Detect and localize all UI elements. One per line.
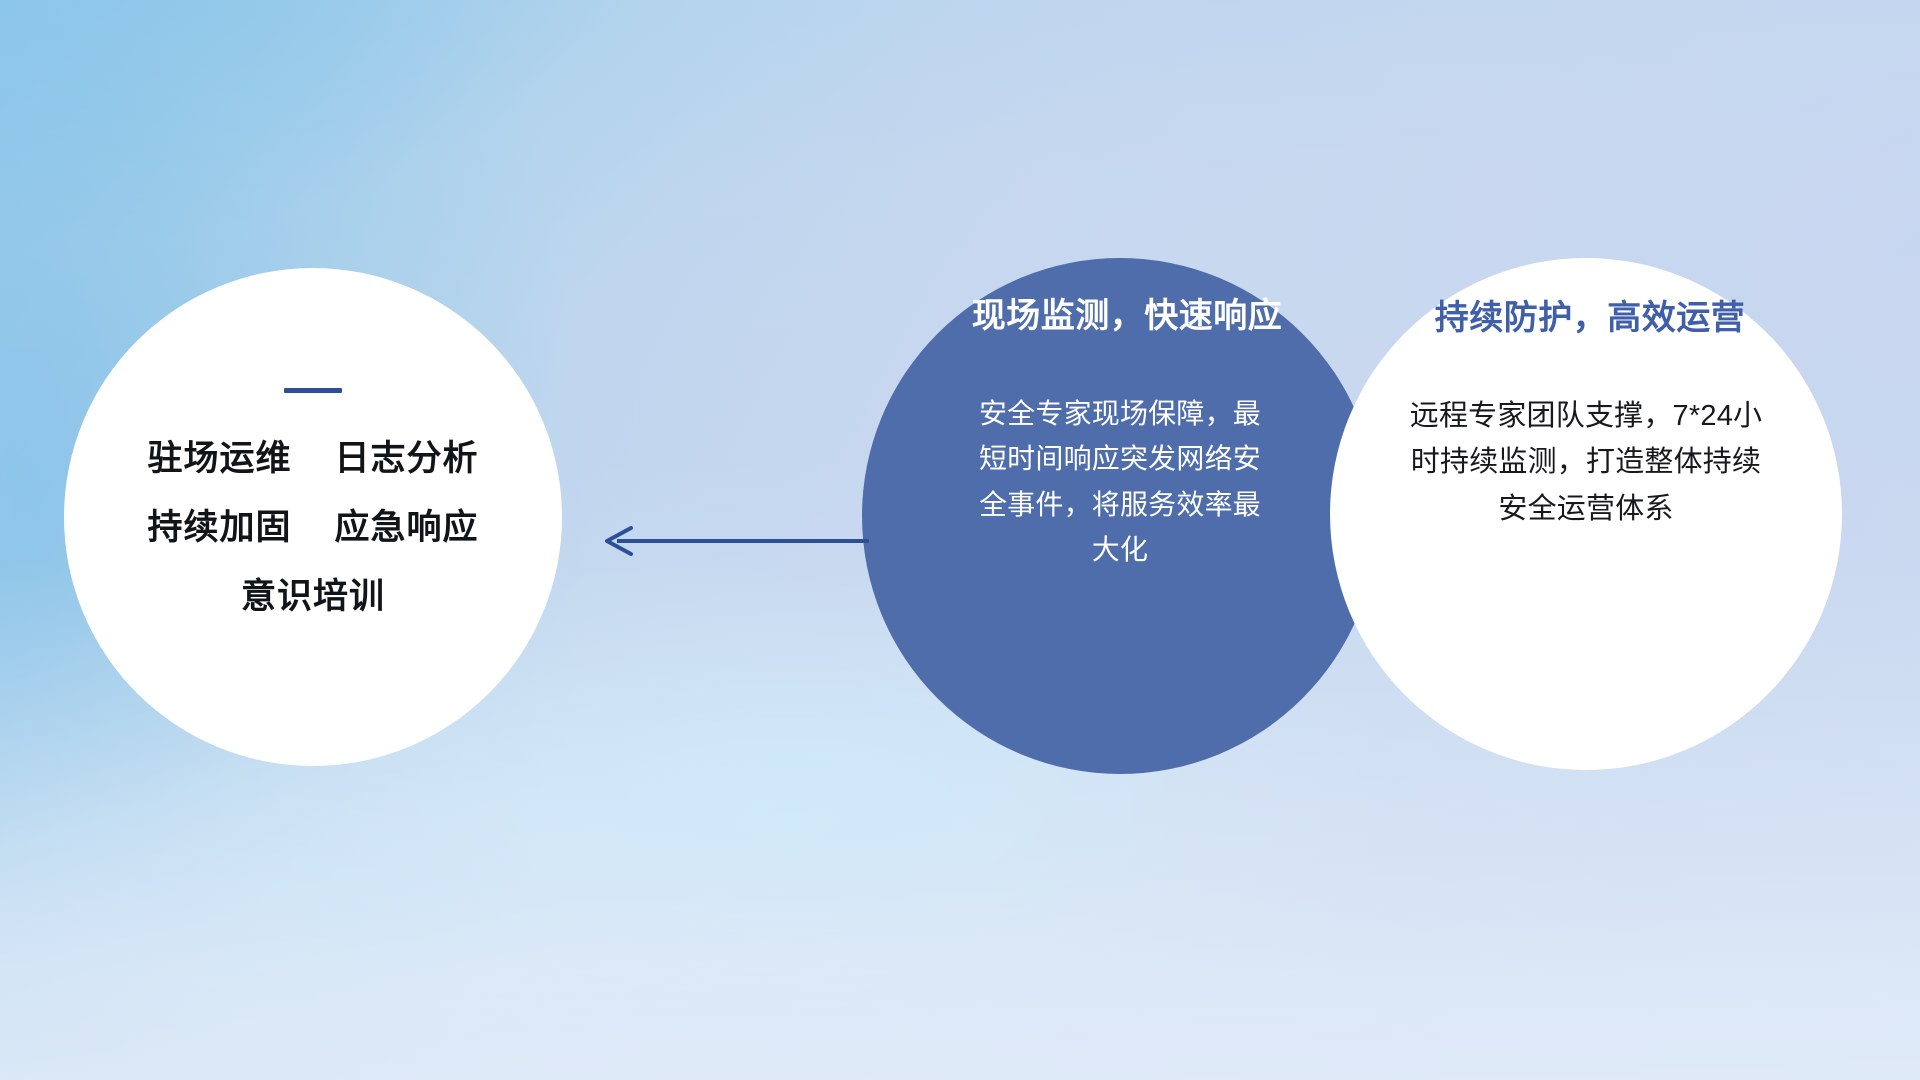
left-pointing-arrow-icon bbox=[595, 512, 875, 572]
right-card-title: 持续防护，高效运营 bbox=[1435, 298, 1746, 339]
left-card: 驻场运维 日志分析 持续加固 应急响应 意识培训 bbox=[64, 268, 562, 766]
center-card-title: 现场监测，快速响应 bbox=[972, 296, 1283, 337]
left-keyword-row: 意识培训 bbox=[241, 579, 385, 614]
center-card-body: 安全专家现场保障，最短时间响应突发网络安全事件，将服务效率最大化 bbox=[977, 391, 1263, 572]
right-card-body: 远程专家团队支撑，7*24小时持续监测，打造整体持续安全运营体系 bbox=[1403, 393, 1769, 532]
center-card: 现场监测，快速响应 安全专家现场保障，最短时间响应突发网络安全事件，将服务效率最… bbox=[862, 258, 1378, 774]
accent-dash-divider bbox=[284, 388, 342, 393]
right-card: 持续防护，高效运营 远程专家团队支撑，7*24小时持续监测，打造整体持续安全运营… bbox=[1330, 258, 1842, 770]
left-keyword-row: 持续加固 应急响应 bbox=[148, 510, 479, 545]
left-keyword-row: 驻场运维 日志分析 bbox=[148, 441, 479, 476]
infographic-canvas: 驻场运维 日志分析 持续加固 应急响应 意识培训 现场监测，快速响应 安全专家现… bbox=[0, 0, 1920, 1080]
